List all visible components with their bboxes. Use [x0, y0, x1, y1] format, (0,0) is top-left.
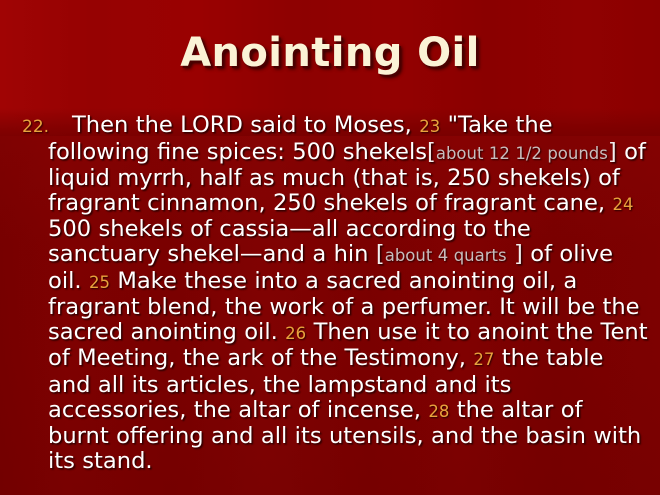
verse-number-25: 25	[89, 273, 110, 292]
verse-number-26: 26	[285, 324, 306, 343]
slide-body-container: 22.Then the LORD said to Moses, 23 "Take…	[22, 113, 648, 473]
verse-number-28: 28	[428, 402, 449, 421]
slide-title-container: Anointing Oil	[0, 30, 660, 76]
slide-canvas: Anointing Oil 22.Then the LORD said to M…	[0, 0, 660, 495]
list-marker: 22.	[22, 115, 49, 140]
verse-number-27: 27	[473, 350, 494, 369]
scripture-paragraph: 22.Then the LORD said to Moses, 23 "Take…	[22, 113, 648, 473]
measure-note-1: about 12 1/2 pounds	[436, 144, 608, 163]
note-close-bracket-1: ]	[608, 139, 617, 165]
verse-number-24: 24	[612, 195, 633, 214]
verse-number-23: 23	[419, 117, 440, 136]
note-close-bracket-2: ]	[514, 241, 523, 267]
measure-note-2: about 4 quarts	[385, 246, 507, 265]
note-open-bracket-1: [	[427, 139, 436, 165]
scripture-text-1: Then the LORD said to Moses,	[72, 112, 412, 138]
slide-title: Anointing Oil	[180, 30, 480, 76]
note-open-bracket-2: [	[376, 241, 385, 267]
